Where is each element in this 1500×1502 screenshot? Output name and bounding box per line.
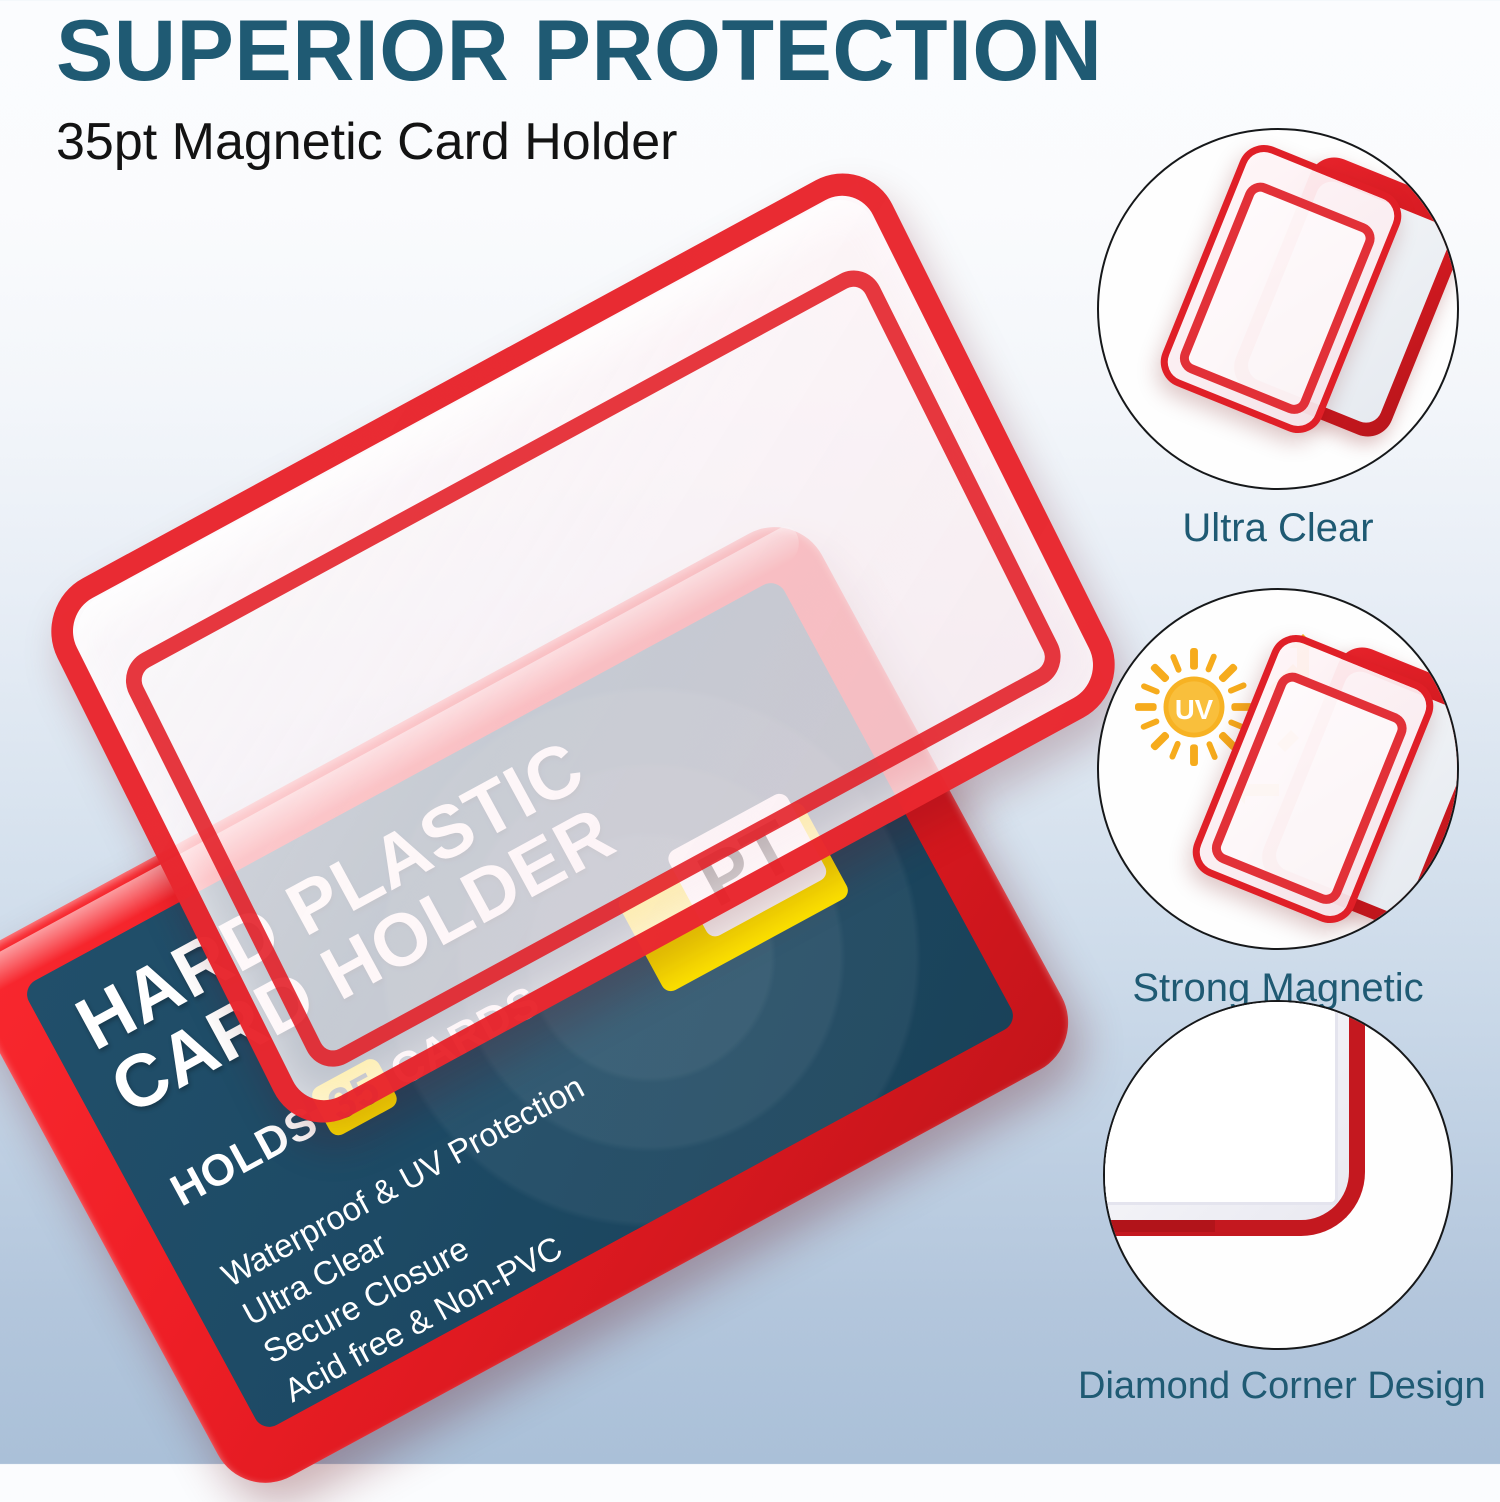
product-hero-image: HARD PLASTIC CARD HOLDER HOLDS35CARDS PT… — [0, 300, 1060, 1330]
corner-red-lip — [1103, 1220, 1215, 1232]
feature-icon-circle — [1097, 128, 1459, 490]
feature-label: Ultra Clear — [1078, 506, 1478, 550]
feature-ultra-clear: Ultra Clear — [1078, 128, 1478, 550]
page-title: SUPERIOR PROTECTION — [56, 8, 1456, 94]
two-stacked-card-holders-icon — [1099, 130, 1457, 488]
feature-label: Diamond Corner Design — [1078, 1366, 1478, 1408]
two-stacked-card-holders-icon — [1099, 590, 1457, 948]
feature-icon-circle — [1103, 1000, 1453, 1350]
feature-icon-circle: UV — [1097, 588, 1459, 950]
corner-white-card — [1103, 1000, 1335, 1202]
feature-strong-magnetic: UV Strong Magnetic — [1078, 588, 1478, 1010]
rounded-corner-macro-icon — [1105, 1002, 1451, 1348]
feature-diamond-corner: Diamond Corner Design — [1078, 1000, 1478, 1408]
